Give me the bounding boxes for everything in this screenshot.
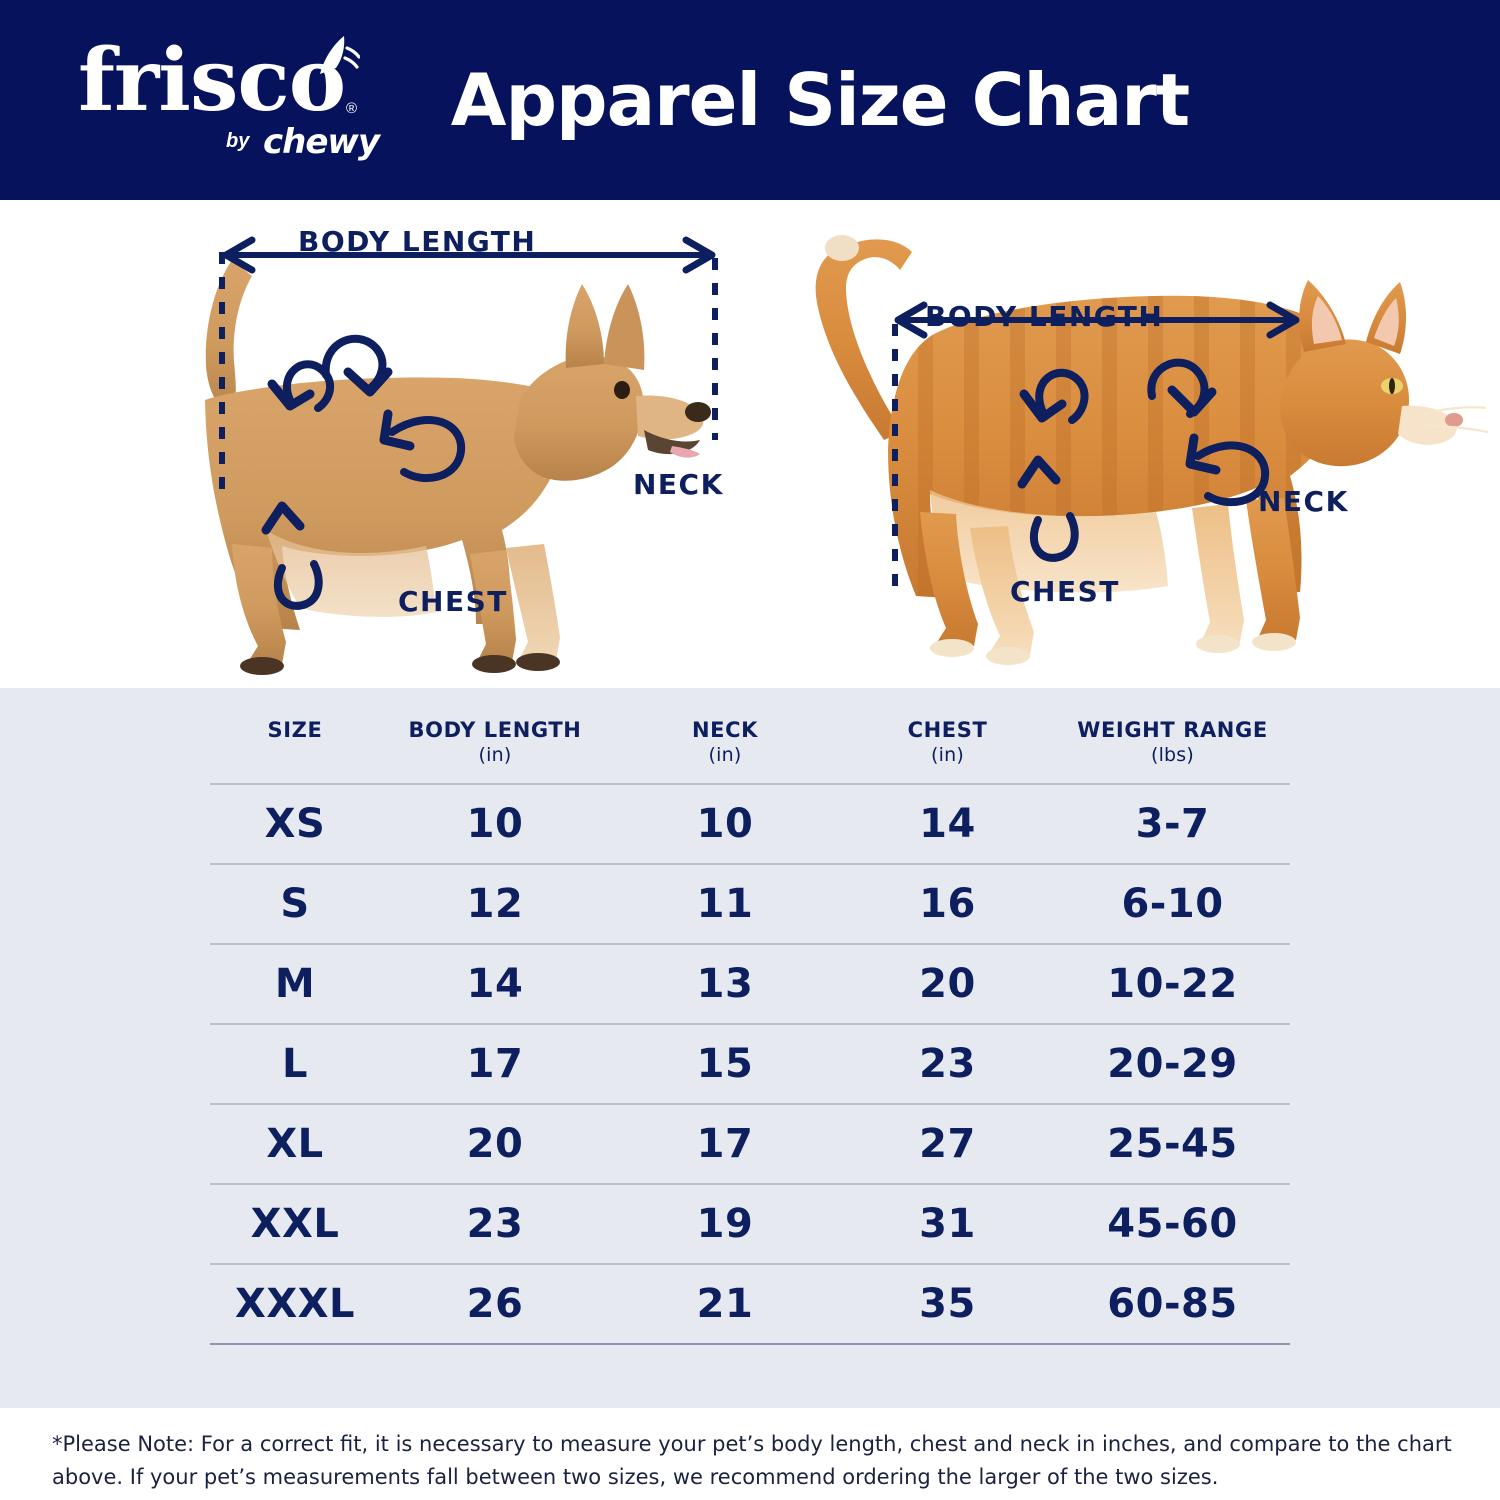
- weight-range-cell: 60-85: [1055, 1264, 1290, 1344]
- weight-range-cell: 25-45: [1055, 1104, 1290, 1184]
- table-row: XXXL26213560-85: [210, 1264, 1290, 1344]
- column-header-weight-range: WEIGHT RANGE (lbs): [1055, 700, 1290, 784]
- body-length-cell: 12: [380, 864, 610, 944]
- table-row: L17152320-29: [210, 1024, 1290, 1104]
- page-footer: *Please Note: For a correct fit, it is n…: [0, 1408, 1500, 1500]
- weight-range-cell: 10-22: [1055, 944, 1290, 1024]
- dog-paw-rear: [240, 657, 284, 675]
- cat-tail-tip: [825, 235, 859, 261]
- neck-cell: 10: [610, 784, 840, 864]
- size-cell: XXL: [210, 1184, 380, 1264]
- size-table-body: XS1010143-7S1211166-10M14132010-22L17152…: [210, 784, 1290, 1344]
- weight-range-cell: 45-60: [1055, 1184, 1290, 1264]
- column-header-body-length-unit: (in): [380, 744, 610, 767]
- neck-cell: 17: [610, 1104, 840, 1184]
- column-header-size: SIZE: [210, 700, 380, 784]
- body-length-cell: 17: [380, 1024, 610, 1104]
- size-cell: XL: [210, 1104, 380, 1184]
- measurement-illustrations: BODY LENGTH NECK CHEST: [0, 200, 1500, 688]
- dog-head: [514, 356, 644, 481]
- column-header-weight-range-unit: (lbs): [1055, 744, 1290, 767]
- cat-nose: [1445, 413, 1463, 427]
- column-header-chest: CHEST (in): [840, 700, 1055, 784]
- footer-note: *Please Note: For a correct fit, it is n…: [52, 1428, 1452, 1493]
- size-table: SIZE BODY LENGTH (in) NECK (in) CHEST (i…: [210, 700, 1290, 1345]
- weight-range-cell: 3-7: [1055, 784, 1290, 864]
- table-row: S1211166-10: [210, 864, 1290, 944]
- cat-paw-front-near: [1196, 635, 1240, 653]
- body-length-cell: 20: [380, 1104, 610, 1184]
- size-cell: XS: [210, 784, 380, 864]
- page-header: frisco ® by chewy Apparel Size Chart: [0, 0, 1500, 200]
- column-header-chest-unit: (in): [840, 744, 1055, 767]
- size-cell: S: [210, 864, 380, 944]
- dog-eye: [614, 381, 630, 399]
- chest-cell: 27: [840, 1104, 1055, 1184]
- cat-paw-front-far: [1252, 633, 1296, 651]
- column-header-body-length: BODY LENGTH (in): [380, 700, 610, 784]
- size-table-section: SIZE BODY LENGTH (in) NECK (in) CHEST (i…: [0, 688, 1500, 1408]
- cat-illustration: [780, 200, 1500, 688]
- cat-paw-rear-far: [930, 639, 974, 657]
- table-row: XL20172725-45: [210, 1104, 1290, 1184]
- dog-nose: [685, 402, 711, 422]
- column-header-neck-label: NECK: [692, 718, 758, 742]
- dog-body-length-label: BODY LENGTH: [298, 225, 536, 258]
- column-header-neck: NECK (in): [610, 700, 840, 784]
- chest-cell: 16: [840, 864, 1055, 944]
- size-cell: L: [210, 1024, 380, 1104]
- chest-cell: 14: [840, 784, 1055, 864]
- chest-cell: 23: [840, 1024, 1055, 1104]
- column-header-weight-range-label: WEIGHT RANGE: [1077, 718, 1268, 742]
- neck-cell: 13: [610, 944, 840, 1024]
- dog-paw-front-near: [516, 653, 560, 671]
- dog-illustration: [0, 200, 760, 688]
- size-table-head: SIZE BODY LENGTH (in) NECK (in) CHEST (i…: [210, 700, 1290, 784]
- column-header-body-length-label: BODY LENGTH: [409, 718, 582, 742]
- dog-ear-back: [566, 284, 604, 368]
- neck-cell: 11: [610, 864, 840, 944]
- table-row: XXL23193145-60: [210, 1184, 1290, 1264]
- chest-cell: 31: [840, 1184, 1055, 1264]
- column-header-size-label: SIZE: [268, 718, 323, 742]
- weight-range-cell: 20-29: [1055, 1024, 1290, 1104]
- dog-ear-front: [604, 284, 644, 370]
- chest-cell: 35: [840, 1264, 1055, 1344]
- body-length-cell: 23: [380, 1184, 610, 1264]
- dog-neck-label: NECK: [633, 468, 724, 501]
- column-header-chest-label: CHEST: [908, 718, 988, 742]
- neck-cell: 21: [610, 1264, 840, 1344]
- neck-cell: 15: [610, 1024, 840, 1104]
- size-cell: M: [210, 944, 380, 1024]
- size-chart-page: frisco ® by chewy Apparel Size Chart: [0, 0, 1500, 1500]
- cat-body-length-label: BODY LENGTH: [925, 300, 1163, 333]
- cat-chest-label: CHEST: [1010, 575, 1120, 608]
- column-header-neck-unit: (in): [610, 744, 840, 767]
- table-row: M14132010-22: [210, 944, 1290, 1024]
- cat-pupil: [1389, 378, 1395, 394]
- cat-paw-rear-near: [986, 647, 1030, 665]
- body-length-cell: 26: [380, 1264, 610, 1344]
- page-title: Apparel Size Chart: [0, 0, 1500, 200]
- body-length-cell: 10: [380, 784, 610, 864]
- cat-neck-label: NECK: [1258, 485, 1349, 518]
- dog-paw-front-far: [472, 655, 516, 673]
- size-cell: XXXL: [210, 1264, 380, 1344]
- table-header-row: SIZE BODY LENGTH (in) NECK (in) CHEST (i…: [210, 700, 1290, 784]
- table-row: XS1010143-7: [210, 784, 1290, 864]
- body-length-cell: 14: [380, 944, 610, 1024]
- dog-chest-label: CHEST: [398, 585, 508, 618]
- neck-cell: 19: [610, 1184, 840, 1264]
- chest-cell: 20: [840, 944, 1055, 1024]
- cat-front-leg-near: [1192, 504, 1244, 642]
- weight-range-cell: 6-10: [1055, 864, 1290, 944]
